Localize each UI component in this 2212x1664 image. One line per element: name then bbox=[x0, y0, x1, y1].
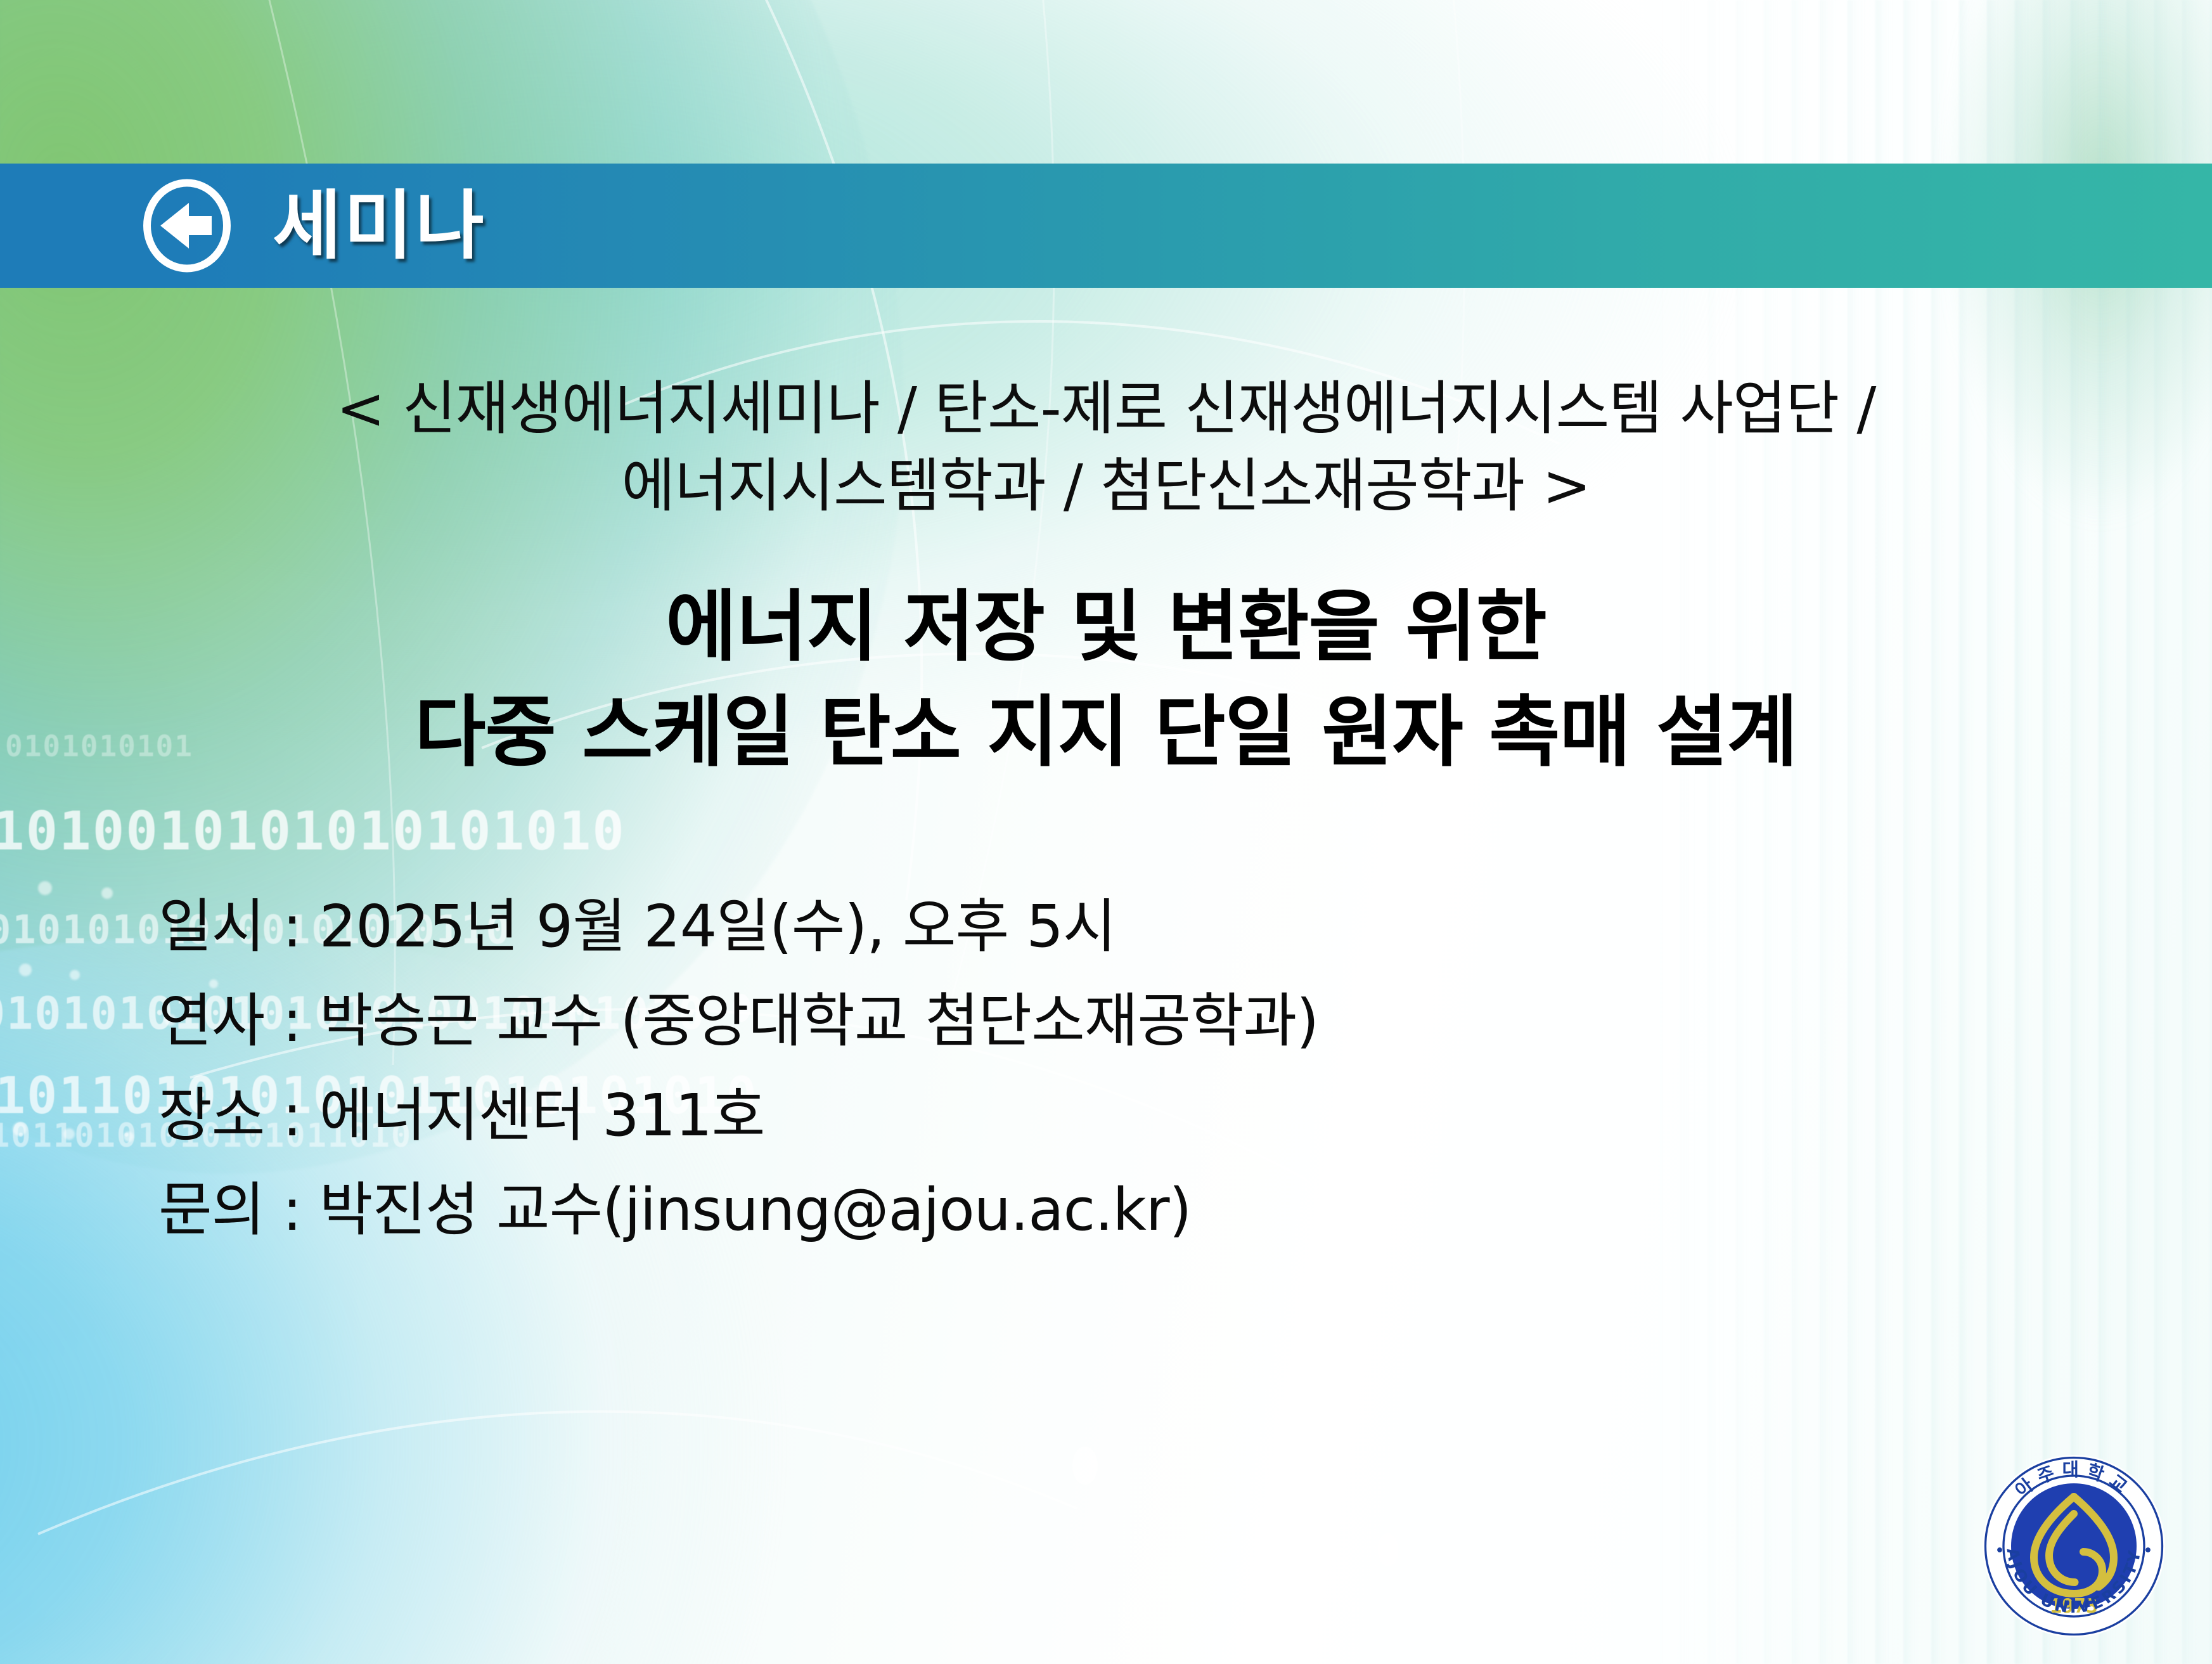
detail-speaker: 연사 : 박승근 교수 (중앙대학교 첨단소재공학과) bbox=[158, 974, 2212, 1068]
seminar-title: 에너지 저장 및 변환을 위한 다중 스케일 탄소 지지 단일 원자 촉매 설계 bbox=[0, 526, 2212, 785]
title-line-1: 에너지 저장 및 변환을 위한 bbox=[101, 575, 2111, 680]
affiliation-line-1: < 신재생에너지세미나 / 탄소-제로 신재생에너지시스템 사업단 / bbox=[266, 370, 1946, 448]
seminar-affiliation: < 신재생에너지세미나 / 탄소-제로 신재생에너지시스템 사업단 / 에너지시… bbox=[0, 288, 2212, 526]
seminar-poster: 0101010101 1010010101010101010 010101010… bbox=[0, 0, 2212, 1664]
detail-datetime: 일시 : 2025년 9월 24일(수), 오후 5시 bbox=[158, 879, 2212, 974]
ajou-university-logo: 1973 아주대학교 AJOU UNIVERSITY bbox=[1979, 1451, 2169, 1641]
affiliation-line-2: 에너지시스템학과 / 첨단신소재공학과 > bbox=[266, 448, 1946, 525]
header-bar: 세미나 bbox=[0, 164, 2212, 288]
detail-contact: 문의 : 박진성 교수(jinsung@ajou.ac.kr) bbox=[158, 1163, 2212, 1257]
back-arrow-circle-icon[interactable] bbox=[139, 178, 235, 273]
detail-location: 장소 : 에너지센터 311호 bbox=[158, 1068, 2212, 1163]
seminar-details: 일시 : 2025년 9월 24일(수), 오후 5시 연사 : 박승근 교수 … bbox=[0, 785, 2212, 1257]
header-title: 세미나 bbox=[273, 188, 487, 263]
poster-content: < 신재생에너지세미나 / 탄소-제로 신재생에너지시스템 사업단 / 에너지시… bbox=[0, 288, 2212, 1257]
title-line-2: 다중 스케일 탄소 지지 단일 원자 촉매 설계 bbox=[101, 680, 2111, 785]
